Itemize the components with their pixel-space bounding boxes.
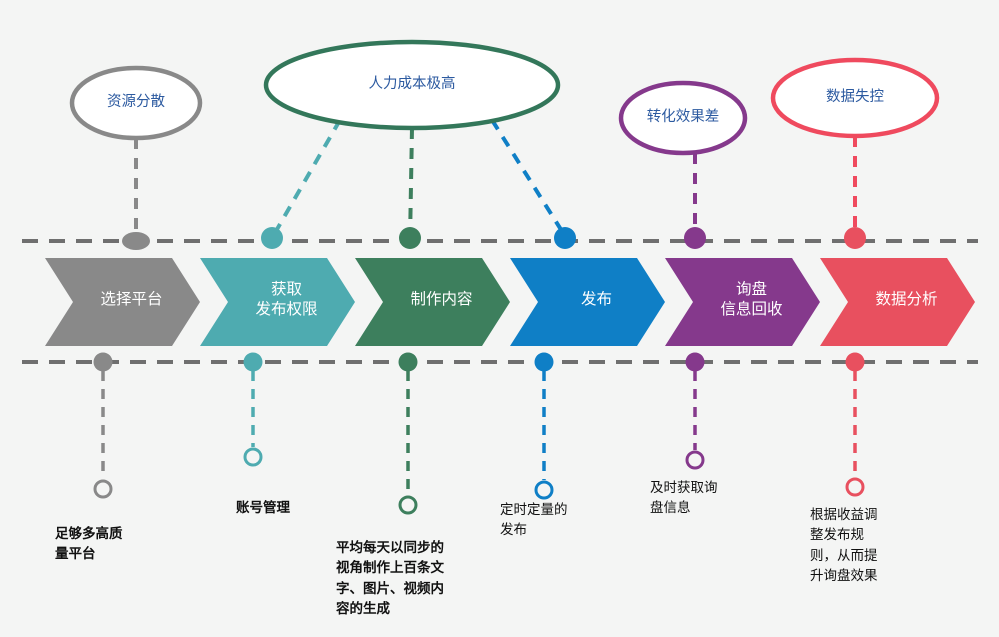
stage-chevron-select-platform[interactable] [45,258,200,346]
pain-connector-high-labor-cost-to-stage-1 [272,120,340,238]
top-marker-get-publish-permission[interactable] [261,227,283,249]
pain-point-connectors [136,120,855,241]
benefit-label-account-management: 账号管理 [236,498,290,518]
top-marker-inquiry-recovery[interactable] [684,227,706,249]
stage-chevron-inquiry-recovery[interactable] [665,258,820,346]
pain-point-ellipse-data-out-of-control[interactable] [773,60,937,136]
benefit-axis-dot-mass-content-generation[interactable] [399,353,418,372]
benefit-axis-dot-scheduled-publishing[interactable] [535,353,554,372]
benefit-endpoint-ring-scheduled-publishing[interactable] [536,482,552,498]
stage-chevron-get-publish-permission[interactable] [200,258,355,346]
benefit-label-enough-quality-platforms: 足够多高质 量平台 [55,524,123,565]
benefit-connectors [94,353,865,514]
benefit-axis-dot-timely-inquiry-capture[interactable] [686,353,705,372]
benefit-endpoint-ring-revenue-based-tuning[interactable] [847,479,863,495]
benefit-label-scheduled-publishing: 定时定量的 发布 [500,500,568,541]
top-marker-create-content[interactable] [399,227,421,249]
top-marker-publish[interactable] [554,227,576,249]
pain-point-ellipse-resource-dispersion[interactable] [72,68,200,138]
benefit-endpoint-ring-timely-inquiry-capture[interactable] [687,452,703,468]
benefit-axis-dot-enough-quality-platforms[interactable] [94,353,113,372]
benefit-axis-dot-account-management[interactable] [244,353,263,372]
stage-chevrons [45,258,975,346]
benefit-endpoint-ring-account-management[interactable] [245,449,261,465]
benefit-label-mass-content-generation: 平均每天以同步的 视角制作上百条文 字、图片、视频内 容的生成 [336,538,444,619]
benefit-endpoint-ring-mass-content-generation[interactable] [400,497,416,513]
stage-chevron-create-content[interactable] [355,258,510,346]
benefit-label-revenue-based-tuning: 根据收益调 整发布规 则，从而提 升询盘效果 [810,505,878,586]
pain-connector-high-labor-cost-to-stage-3 [492,120,565,236]
top-marker-data-analysis[interactable] [844,227,866,249]
process-flow-diagram: 资源分散人力成本极高转化效果差数据失控 选择平台获取 发布权限制作内容发布询盘 … [0,0,999,637]
pain-point-ellipse-poor-conversion[interactable] [621,83,745,153]
top-marker-select-platform[interactable] [122,232,150,250]
stage-chevron-data-analysis[interactable] [820,258,975,346]
top-axis-markers [122,227,866,250]
benefit-endpoint-ring-enough-quality-platforms[interactable] [95,481,111,497]
pain-connector-high-labor-cost-to-stage-2 [410,128,412,241]
benefit-axis-dot-revenue-based-tuning[interactable] [846,353,865,372]
pain-point-ellipse-high-labor-cost[interactable] [266,42,558,128]
stage-chevron-publish[interactable] [510,258,665,346]
benefit-label-timely-inquiry-capture: 及时获取询 盘信息 [650,478,718,519]
